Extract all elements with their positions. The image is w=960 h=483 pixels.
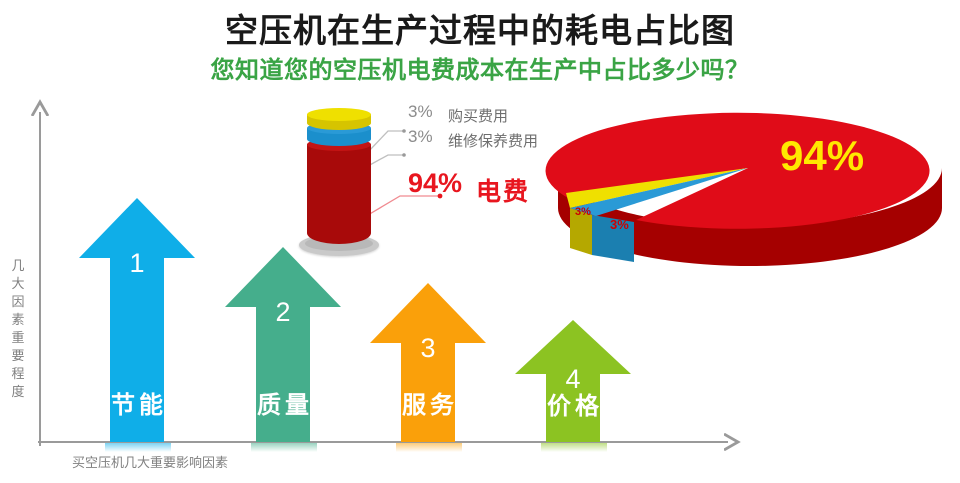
- pie-label-purchase: 3%: [575, 206, 591, 218]
- callout-percent-maintenance: 3%: [408, 127, 433, 147]
- infographic-canvas: 空压机在生产过程中的耗电占比图 您知道您的空压机电费成本在生产中占比多少吗？: [0, 0, 960, 483]
- pie-label-electricity: 94%: [780, 132, 864, 180]
- cylinder-segment-electricity: [307, 144, 371, 244]
- callout-percent-purchase: 3%: [408, 102, 433, 122]
- pie-label-maintenance: 3%: [610, 217, 629, 232]
- leader-dot-purchase: [402, 129, 406, 133]
- callout-percent-electricity: 94%: [408, 168, 462, 199]
- pie-chart-svg: [548, 112, 952, 260]
- callout-label-maintenance: 维修保养费用: [448, 130, 538, 151]
- leader-dot-maintenance: [402, 153, 406, 157]
- callout-label-electricity: 电费: [476, 172, 530, 208]
- pie-chart: 94% 3% 3%: [548, 112, 952, 260]
- cylinder-chart: [297, 116, 393, 256]
- callout-label-purchase: 购买费用: [448, 105, 508, 126]
- cylinder-segment-purchase-top: [307, 108, 371, 121]
